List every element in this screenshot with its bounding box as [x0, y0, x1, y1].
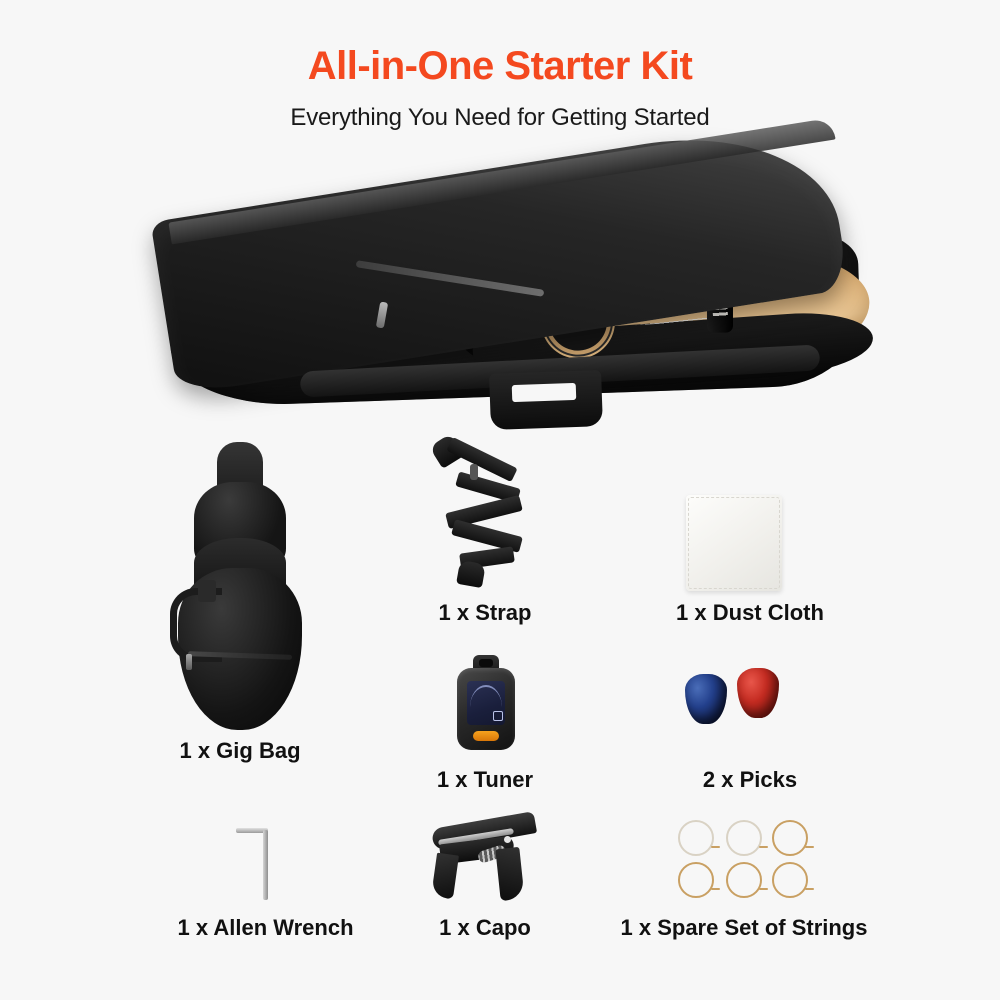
item-label-strap: 1 x Strap: [375, 600, 595, 626]
string-coil-tail-2: [759, 846, 768, 848]
picks-art: [685, 668, 783, 742]
item-picks: 2 x Picks: [625, 645, 875, 805]
item-dust-cloth: 1 x Dust Cloth: [625, 430, 875, 630]
item-label-allen-wrench: 1 x Allen Wrench: [128, 915, 403, 941]
string-coil-tail-4: [711, 888, 720, 890]
item-label-tuner: 1 x Tuner: [375, 767, 595, 793]
zipper-pull-icon: [186, 654, 192, 670]
item-tuner: 1 x Tuner: [375, 645, 595, 805]
string-coil-tail-6: [805, 888, 814, 890]
tuner-power-button[interactable]: [473, 731, 499, 741]
guitar-pick-red: [737, 668, 779, 718]
item-spare-strings: 1 x Spare Set of Strings: [588, 805, 900, 955]
strap-art: [430, 438, 540, 588]
item-gig-bag: 1 x Gig Bag: [130, 430, 350, 780]
tuner-art: [453, 655, 517, 751]
string-coil-tail-1: [711, 846, 720, 848]
string-coil-6: [772, 862, 808, 898]
item-label-capo: 1 x Capo: [400, 915, 570, 941]
item-label-dust-cloth: 1 x Dust Cloth: [625, 600, 875, 626]
strap-slider-buckle: [470, 464, 478, 480]
page-subtitle: Everything You Need for Getting Started: [0, 104, 1000, 132]
string-coil-3: [772, 820, 808, 856]
tuner-clip-opening: [479, 659, 493, 667]
item-label-picks: 2 x Picks: [625, 767, 875, 793]
strings-art: [678, 820, 810, 902]
wrench-long-arm: [263, 830, 268, 900]
string-coil-4: [678, 862, 714, 898]
capo-handle-right: [495, 847, 524, 901]
item-label-gig-bag: 1 x Gig Bag: [130, 738, 350, 764]
capo-handle-left: [431, 853, 459, 900]
item-strap: 1 x Strap: [375, 430, 595, 630]
item-capo: 1 x Capo: [400, 805, 570, 955]
product-infographic: All-in-One Starter Kit Everything You Ne…: [0, 0, 1000, 1000]
string-coil-2: [726, 820, 762, 856]
page-title: All-in-One Starter Kit: [0, 44, 1000, 89]
allen-wrench-art: [236, 828, 296, 900]
tuner-note-indicator: [493, 711, 503, 721]
cloth-stitching: [688, 497, 780, 589]
hero-guitar-in-gig-bag-image: [150, 150, 870, 460]
string-coil-5: [726, 862, 762, 898]
gig-bag-strap-tab: [198, 580, 216, 602]
carry-handle-opening: [512, 383, 577, 402]
string-coil-tail-5: [759, 888, 768, 890]
gig-bag-art: [170, 440, 310, 730]
string-coil-1: [678, 820, 714, 856]
capo-art: [426, 818, 544, 900]
string-coil-tail-3: [805, 846, 814, 848]
item-label-spare-strings: 1 x Spare Set of Strings: [588, 915, 900, 941]
capo-pivot-screw: [504, 836, 511, 843]
dust-cloth-art: [686, 495, 782, 591]
guitar-pick-blue: [685, 674, 727, 724]
item-allen-wrench: 1 x Allen Wrench: [128, 805, 403, 955]
